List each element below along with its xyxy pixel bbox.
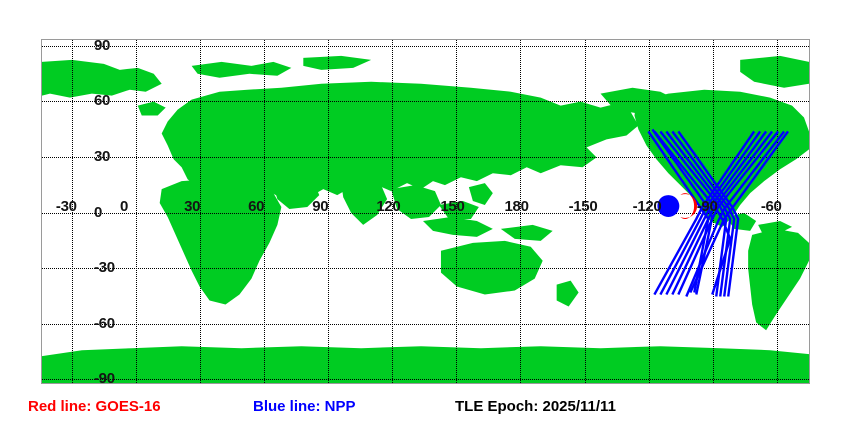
legend-bar: Red line: GOES-16 Blue line: NPP TLE Epo…: [0, 392, 850, 425]
legend-tle-epoch: TLE Epoch: 2025/11/11: [455, 399, 616, 414]
lon-tick-label-150: 150: [440, 199, 464, 214]
lon-tick-label-180: 180: [504, 199, 528, 214]
legend-blue-line-npp: Blue line: NPP: [253, 399, 356, 414]
lon-tick-label-120: 120: [376, 199, 400, 214]
lon-tick-label-0: 0: [120, 199, 128, 214]
legend-red-line-goes16: Red line: GOES-16: [28, 399, 161, 414]
lon-tick-label-30: 30: [184, 199, 200, 214]
lon-tick-label--60: -60: [761, 199, 782, 214]
land-arctic-islands: [192, 62, 292, 78]
lon-tick-label--150: -150: [569, 199, 598, 214]
land-arctic-islands-2: [303, 56, 371, 70]
land-antarctica: [42, 346, 809, 383]
land-indonesia: [423, 217, 493, 237]
land-greenland-east: [740, 56, 809, 88]
continents-layer: [42, 40, 809, 383]
land-australia: [441, 241, 543, 295]
land-new-zealand: [557, 281, 579, 307]
lat-tick-label-0: 0: [94, 205, 102, 220]
lon-tick-label--90: -90: [697, 199, 718, 214]
lat-tick-label--60: -60: [94, 316, 115, 331]
land-south-america: [748, 229, 809, 330]
lat-tick-label-30: 30: [94, 149, 110, 164]
world-map-panel: -300306090120150180-150-120-90-609060300…: [41, 39, 810, 384]
lat-tick-label-60: 60: [94, 93, 110, 108]
land-philippines: [469, 183, 493, 205]
lat-tick-label-90: 90: [94, 38, 110, 53]
lon-tick-label--30: -30: [56, 199, 77, 214]
landmass-group: [42, 56, 809, 383]
lat-tick-label--90: -90: [94, 371, 115, 386]
land-iceland: [138, 102, 166, 116]
lat-tick-label--30: -30: [94, 260, 115, 275]
land-new-guinea: [501, 225, 553, 241]
lon-tick-label--120: -120: [633, 199, 662, 214]
lon-tick-label-90: 90: [312, 199, 328, 214]
map-clip-region: [42, 40, 809, 383]
land-eurasia: [162, 82, 639, 197]
lon-tick-label-60: 60: [248, 199, 264, 214]
